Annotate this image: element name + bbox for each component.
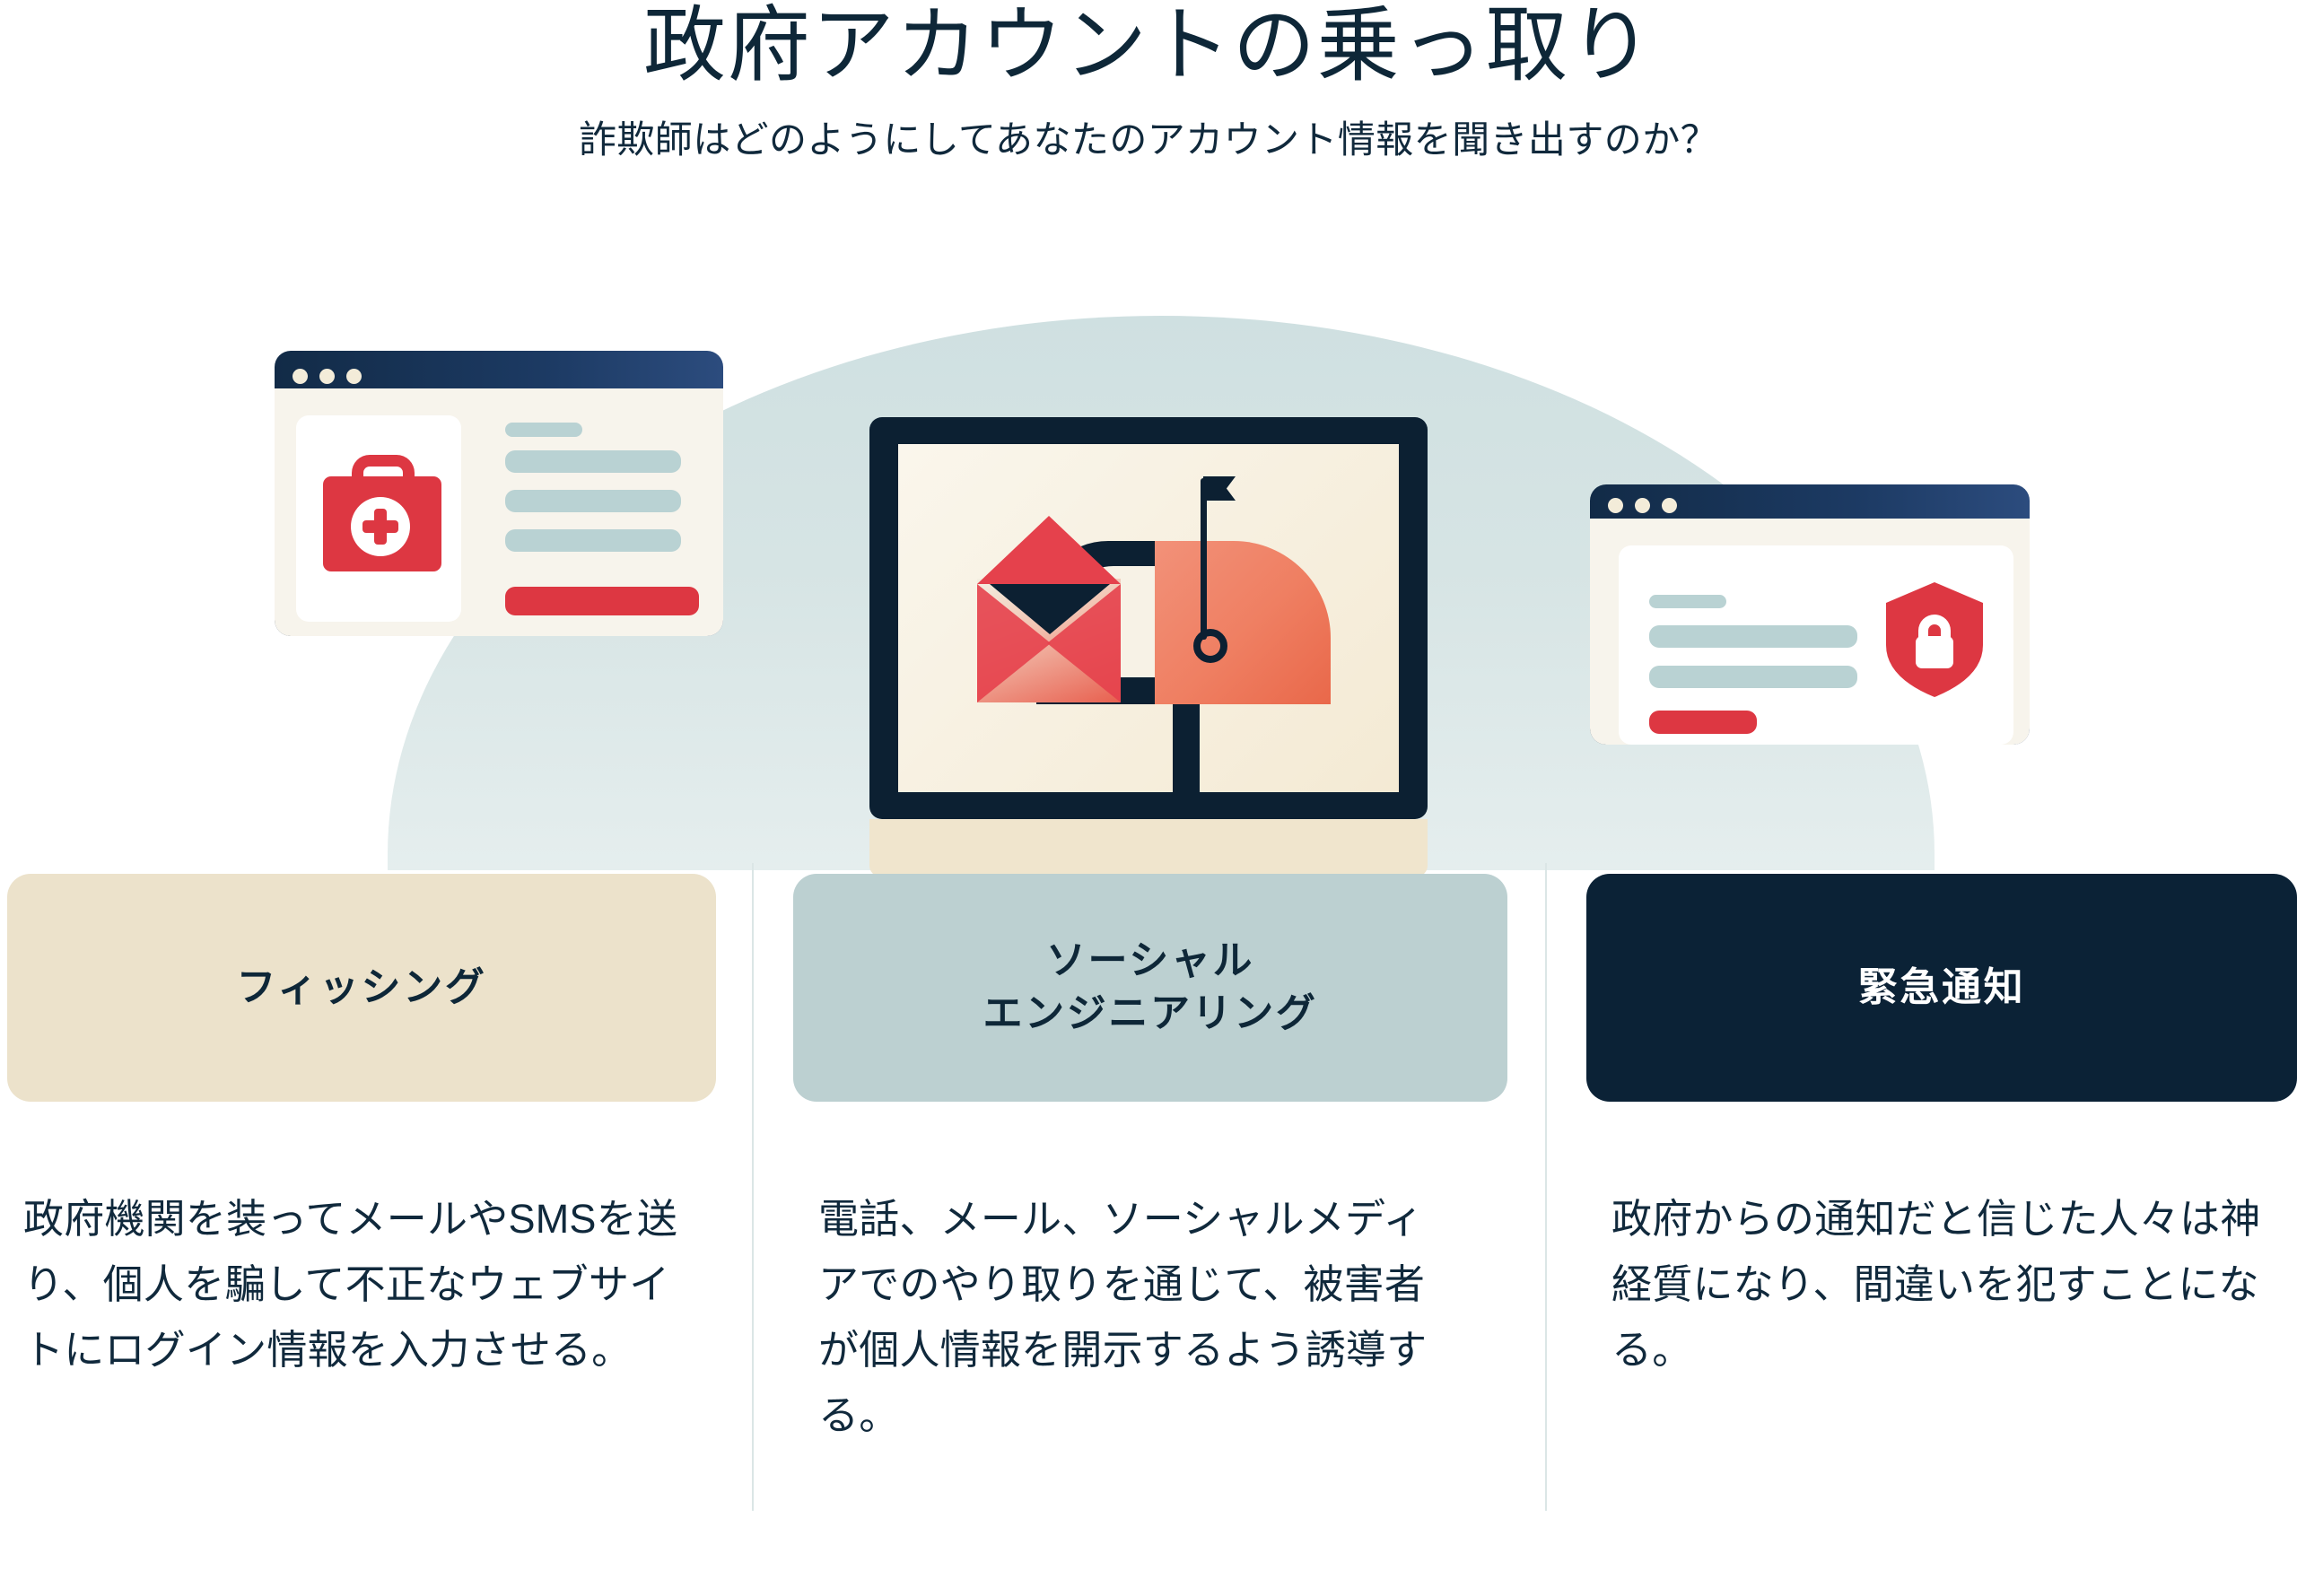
illustration-phishing-browser [269,345,736,650]
mailbox-knob [1193,629,1227,663]
category-card-social-engineering[interactable]: ソーシャル エンジニアリング [793,874,1507,1102]
category-card-label-line-1: ソーシャル [1046,938,1254,982]
placeholder-cta-button [1649,711,1757,734]
illustration-urgent-notice-browser [1579,475,2046,754]
window-minimize-dot-icon [1635,498,1650,513]
window-maximize-dot-icon [346,369,362,384]
placeholder-line [505,450,681,473]
category-card-urgent-notice[interactable]: 緊急通知 [1586,874,2297,1102]
window-maximize-dot-icon [1662,498,1677,513]
shield-lock-icon [1886,582,1983,697]
window-minimize-dot-icon [319,369,335,384]
browser-traffic-light-dots [1608,498,1677,513]
category-card-phishing[interactable]: フィッシング [7,874,716,1102]
mailbox-post [1173,700,1200,794]
category-card-label-line-2: エンジニアリング [983,991,1317,1035]
category-card-label: フィッシング [237,962,487,1015]
description-social-engineering: 電話、メール、ソーシャルメディアでのやり取りを通じて、被害者が個人情報を開示する… [818,1187,1461,1449]
placeholder-line [1649,666,1857,688]
placeholder-line [505,529,681,552]
placeholder-line [1649,595,1726,608]
illustration-social-engineering-monitor [857,408,1440,875]
placeholder-cta-button [505,587,699,615]
browser-traffic-light-dots [293,369,362,384]
page-title: 政府アカウントの乗っ取り [0,0,2297,92]
placeholder-line [505,490,681,512]
category-card-label: 緊急通知 [1858,962,2026,1015]
placeholder-line [1649,625,1857,648]
page-header: 政府アカウントの乗っ取り 詐欺師はどのようにしてあなたのアカウント情報を聞き出す… [0,0,2297,165]
mailbox-flag-pole [1201,478,1207,640]
category-cards-row: フィッシング ソーシャル エンジニアリング 緊急通知 [0,867,2297,1118]
first-aid-kit-icon [323,455,441,571]
window-close-dot-icon [293,369,308,384]
description-urgent-notice: 政府からの通知だと信じた人々は神経質になり、間違いを犯すことになる。 [1611,1187,2266,1383]
window-close-dot-icon [1608,498,1623,513]
page-subtitle: 詐欺師はどのようにしてあなたのアカウント情報を聞き出すのか？ [0,92,2297,165]
placeholder-line [505,423,582,437]
description-phishing: 政府機関を装ってメールやSMSを送り、個人を騙して不正なウェブサイトにログイン情… [23,1187,678,1383]
infographic-page: 政府アカウントの乗っ取り 詐欺師はどのようにしてあなたのアカウント情報を聞き出す… [0,0,2297,1596]
category-card-label: ソーシャル エンジニアリング [983,935,1317,1041]
